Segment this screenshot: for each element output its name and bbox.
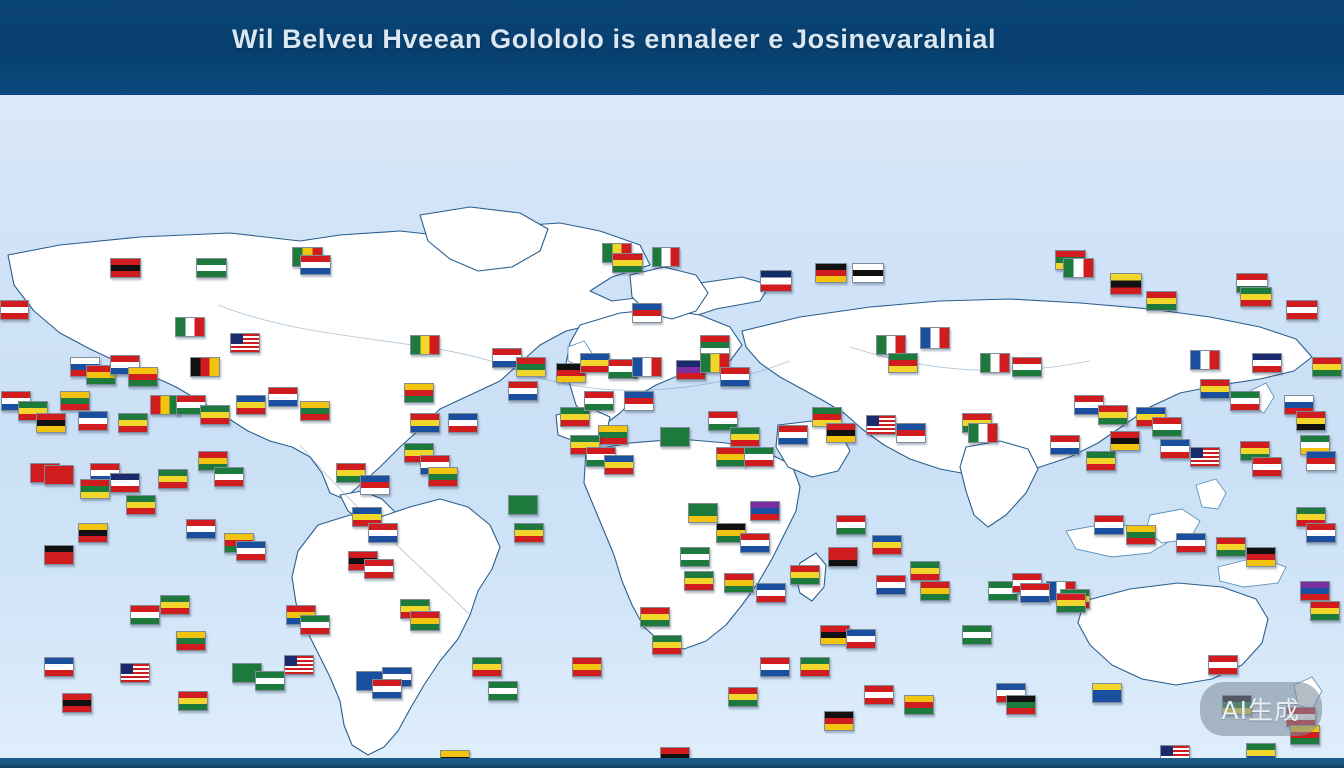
flag-bands xyxy=(1,301,28,319)
flag-marker[interactable] xyxy=(128,367,158,387)
flag-bands xyxy=(605,456,633,474)
flag-marker[interactable] xyxy=(1050,435,1080,455)
flag-marker[interactable] xyxy=(1252,353,1282,373)
flag-canton xyxy=(1161,746,1173,756)
flag-canton xyxy=(867,416,879,426)
flag-bands xyxy=(129,368,157,386)
flag-marker[interactable] xyxy=(1296,411,1326,431)
flag-bands xyxy=(201,406,229,424)
flag-bands xyxy=(969,424,997,442)
flag-bands xyxy=(717,448,745,466)
flag-bands xyxy=(779,426,807,444)
flag-marker[interactable] xyxy=(968,423,998,443)
flag-bands xyxy=(111,474,139,492)
flag-marker[interactable] xyxy=(750,501,780,521)
flag-bands xyxy=(725,574,753,592)
flag-bands xyxy=(161,596,189,614)
flag-bands xyxy=(573,658,601,676)
flag-bands xyxy=(1161,746,1189,758)
flag-marker[interactable] xyxy=(118,413,148,433)
flag-bands xyxy=(489,682,517,700)
flag-bands xyxy=(361,476,389,494)
flag-marker[interactable] xyxy=(284,655,314,675)
flag-marker[interactable] xyxy=(190,357,220,377)
flag-marker[interactable] xyxy=(920,327,950,349)
flag-bands xyxy=(741,534,769,552)
flag-bands xyxy=(131,606,159,624)
flag-marker[interactable] xyxy=(828,547,858,567)
flag-marker[interactable] xyxy=(1056,593,1086,613)
flag-bands xyxy=(661,428,689,446)
flag-marker[interactable] xyxy=(760,270,792,292)
flag-canton xyxy=(285,656,297,666)
flag-bands xyxy=(191,358,219,376)
flag-bands xyxy=(365,560,393,578)
flag-marker[interactable] xyxy=(778,425,808,445)
flag-marker[interactable] xyxy=(255,671,285,691)
flag-bands xyxy=(81,480,109,498)
flag-bands xyxy=(613,254,642,272)
flag-bands xyxy=(119,414,147,432)
flag-bands xyxy=(1307,452,1335,470)
flag-marker[interactable] xyxy=(632,357,662,377)
flag-bands xyxy=(1191,448,1219,466)
flag-bands xyxy=(1095,516,1123,534)
flag-marker[interactable] xyxy=(1240,287,1272,307)
flag-bands xyxy=(889,354,917,372)
flag-bands xyxy=(237,396,265,414)
flag-marker[interactable] xyxy=(44,657,74,677)
flag-bands xyxy=(1301,582,1329,600)
flag-marker[interactable] xyxy=(1110,431,1140,451)
flag-marker[interactable] xyxy=(1310,601,1340,621)
flag-marker[interactable] xyxy=(160,595,190,615)
flag-bands xyxy=(837,516,865,534)
flag-marker[interactable] xyxy=(1208,655,1238,675)
flag-bands xyxy=(301,402,329,420)
flag-marker[interactable] xyxy=(716,447,746,467)
flag-bands xyxy=(176,318,204,336)
flag-marker[interactable] xyxy=(236,395,266,415)
flag-marker[interactable] xyxy=(580,353,610,373)
flag-bands xyxy=(45,658,73,676)
flag-bands xyxy=(63,694,91,712)
flag-bands xyxy=(369,524,397,542)
flag-bands xyxy=(373,680,401,698)
flag-bands xyxy=(159,470,187,488)
flag-bands xyxy=(911,562,939,580)
flag-bands xyxy=(801,658,829,676)
flag-marker[interactable] xyxy=(300,255,331,275)
flag-bands xyxy=(1217,538,1245,556)
flag-marker[interactable] xyxy=(178,691,208,711)
flag-marker[interactable] xyxy=(1086,451,1116,471)
flag-marker[interactable] xyxy=(176,631,206,651)
flag-marker[interactable] xyxy=(688,503,718,523)
flag-bands xyxy=(61,392,89,410)
flag-marker[interactable] xyxy=(428,467,458,487)
flag-marker[interactable] xyxy=(440,750,470,758)
flag-marker[interactable] xyxy=(1126,525,1156,545)
flag-marker[interactable] xyxy=(824,711,854,731)
flag-marker[interactable] xyxy=(410,335,440,355)
flag-marker[interactable] xyxy=(836,515,866,535)
flag-bands xyxy=(509,382,537,400)
page-header: Wil Belveu Hveean Golololo is ennaleer e… xyxy=(0,0,1344,95)
flag-marker[interactable] xyxy=(0,300,29,320)
flag-bands xyxy=(751,502,779,520)
flag-bands xyxy=(231,334,259,352)
flag-bands xyxy=(821,626,849,644)
flag-bands xyxy=(79,524,107,542)
flag-marker[interactable] xyxy=(110,473,140,493)
flag-marker[interactable] xyxy=(744,447,774,467)
flag-marker[interactable] xyxy=(200,405,230,425)
flag-marker[interactable] xyxy=(864,685,894,705)
flag-bands xyxy=(177,632,205,650)
flag-bands xyxy=(757,584,785,602)
flag-marker[interactable] xyxy=(410,413,440,433)
flag-marker[interactable] xyxy=(158,469,188,489)
flag-marker[interactable] xyxy=(1190,447,1220,467)
flag-bands xyxy=(127,496,155,514)
flag-marker[interactable] xyxy=(78,411,108,431)
flag-marker[interactable] xyxy=(508,495,538,515)
page-title: Wil Belveu Hveean Golololo is ennaleer e… xyxy=(232,24,1064,55)
flag-marker[interactable] xyxy=(300,401,330,421)
flag-bands xyxy=(517,358,545,376)
flag-bands xyxy=(701,336,729,354)
flag-marker[interactable] xyxy=(790,565,820,585)
flag-bands xyxy=(269,388,297,406)
flag-bands xyxy=(829,548,857,566)
world-map-canvas[interactable]: AI生成 xyxy=(0,95,1344,758)
flag-marker[interactable] xyxy=(186,519,216,539)
flag-marker[interactable] xyxy=(80,479,110,499)
flag-bands xyxy=(1247,744,1275,758)
flag-bands xyxy=(1013,358,1041,376)
flag-marker[interactable] xyxy=(826,423,856,443)
flag-bands xyxy=(1021,584,1049,602)
flag-bands xyxy=(1111,274,1141,294)
flag-marker[interactable] xyxy=(624,391,654,411)
flag-marker[interactable] xyxy=(126,495,156,515)
flag-marker[interactable] xyxy=(488,681,518,701)
flag-marker[interactable] xyxy=(888,353,918,373)
flag-marker[interactable] xyxy=(1092,683,1122,703)
flag-bands xyxy=(197,259,226,277)
flag-marker[interactable] xyxy=(1312,357,1342,377)
flag-marker[interactable] xyxy=(1176,533,1206,553)
flag-marker[interactable] xyxy=(1094,515,1124,535)
flag-marker[interactable] xyxy=(1286,300,1318,320)
flag-marker[interactable] xyxy=(724,573,754,593)
flag-marker[interactable] xyxy=(684,571,714,591)
flag-canton xyxy=(231,334,243,344)
flag-bands xyxy=(791,566,819,584)
flag-marker[interactable] xyxy=(404,383,434,403)
flag-bands xyxy=(581,354,609,372)
flag-marker[interactable] xyxy=(1160,745,1190,758)
flag-bands xyxy=(411,414,439,432)
flag-marker[interactable] xyxy=(700,335,730,355)
flag-marker[interactable] xyxy=(876,335,906,355)
flag-bands xyxy=(429,468,457,486)
flag-bands xyxy=(641,608,669,626)
flag-bands xyxy=(1057,594,1085,612)
flag-bands xyxy=(111,259,140,277)
flag-bands xyxy=(1253,354,1281,372)
flag-marker[interactable] xyxy=(904,695,934,715)
flag-bands xyxy=(865,686,893,704)
flag-bands xyxy=(1209,656,1237,674)
flag-bands xyxy=(873,536,901,554)
flag-marker[interactable] xyxy=(872,535,902,555)
flag-marker[interactable] xyxy=(598,425,628,445)
flag-marker[interactable] xyxy=(36,413,66,433)
flag-marker[interactable] xyxy=(214,467,244,487)
flag-marker[interactable] xyxy=(660,747,690,758)
flag-bands xyxy=(441,751,469,758)
flag-marker[interactable] xyxy=(62,693,92,713)
flag-bands xyxy=(411,612,439,630)
flag-marker[interactable] xyxy=(175,317,205,337)
flag-bands xyxy=(301,256,330,274)
flag-marker[interactable] xyxy=(1020,583,1050,603)
flag-bands xyxy=(37,414,65,432)
flag-canton xyxy=(121,664,133,674)
flag-bands xyxy=(877,576,905,594)
flag-marker[interactable] xyxy=(1098,405,1128,425)
flag-bands xyxy=(731,428,759,446)
flag-marker[interactable] xyxy=(44,465,74,485)
flag-bands xyxy=(1241,288,1271,306)
flag-bands xyxy=(963,626,991,644)
flag-marker[interactable] xyxy=(756,583,786,603)
flag-bands xyxy=(897,424,925,442)
flag-marker[interactable] xyxy=(572,657,602,677)
flag-bands xyxy=(625,392,653,410)
flag-marker[interactable] xyxy=(364,559,394,579)
flag-marker[interactable] xyxy=(846,629,876,649)
flag-marker[interactable] xyxy=(652,247,680,267)
flag-marker[interactable] xyxy=(508,381,538,401)
flag-marker[interactable] xyxy=(632,303,662,323)
flag-marker[interactable] xyxy=(815,263,847,283)
flag-marker[interactable] xyxy=(640,607,670,627)
flag-marker[interactable] xyxy=(1300,581,1330,601)
flag-marker[interactable] xyxy=(410,611,440,631)
flag-marker[interactable] xyxy=(1216,537,1246,557)
flag-bands xyxy=(473,658,501,676)
flag-bands xyxy=(816,264,846,282)
flag-bands xyxy=(237,542,265,560)
flag-bands xyxy=(825,712,853,730)
flag-marker[interactable] xyxy=(120,663,150,683)
flag-marker[interactable] xyxy=(1306,523,1336,543)
flag-bands xyxy=(905,696,933,714)
flag-bands xyxy=(1307,524,1335,542)
flag-marker[interactable] xyxy=(130,605,160,625)
flag-bands xyxy=(827,424,855,442)
flag-marker[interactable] xyxy=(44,545,74,565)
flag-bands xyxy=(301,616,329,634)
flag-bands xyxy=(847,630,875,648)
flag-marker[interactable] xyxy=(1146,291,1177,311)
flag-bands xyxy=(633,358,661,376)
flag-marker[interactable] xyxy=(1230,391,1260,411)
flag-bands xyxy=(729,688,757,706)
flag-bands xyxy=(599,426,627,444)
flag-bands xyxy=(653,248,679,266)
flag-marker[interactable] xyxy=(896,423,926,443)
flag-bands xyxy=(509,496,537,514)
flag-bands xyxy=(121,664,149,682)
flag-bands xyxy=(215,468,243,486)
flag-marker[interactable] xyxy=(368,523,398,543)
flag-marker[interactable] xyxy=(1006,695,1036,715)
flag-marker[interactable] xyxy=(516,357,546,377)
flag-bands xyxy=(1311,602,1339,620)
flag-marker[interactable] xyxy=(230,333,260,353)
flag-bands xyxy=(653,636,681,654)
flag-bands xyxy=(151,396,179,414)
flag-marker[interactable] xyxy=(110,258,141,278)
flag-bands xyxy=(689,504,717,522)
flag-bands xyxy=(515,524,543,542)
flag-marker[interactable] xyxy=(760,657,790,677)
flag-bands xyxy=(256,672,284,690)
flag-marker[interactable] xyxy=(728,687,758,707)
flag-marker[interactable] xyxy=(1012,357,1042,377)
flag-marker[interactable] xyxy=(1190,350,1220,370)
flag-bands xyxy=(745,448,773,466)
flag-bands xyxy=(1231,392,1259,410)
flag-marker[interactable] xyxy=(876,575,906,595)
flag-marker[interactable] xyxy=(448,413,478,433)
flag-marker[interactable] xyxy=(962,625,992,645)
flag-bands xyxy=(187,520,215,538)
flag-marker[interactable] xyxy=(740,533,770,553)
flag-bands xyxy=(921,582,949,600)
flag-bands xyxy=(1161,440,1189,458)
flag-marker[interactable] xyxy=(584,391,614,411)
ai-generated-watermark: AI生成 xyxy=(1200,682,1322,736)
flag-bands xyxy=(681,548,709,566)
flag-marker[interactable] xyxy=(652,635,682,655)
flag-marker[interactable] xyxy=(612,253,643,273)
flag-bands xyxy=(1313,358,1341,376)
flag-bands xyxy=(685,572,713,590)
flag-marker[interactable] xyxy=(1306,451,1336,471)
flag-bands xyxy=(45,466,73,484)
flag-bands xyxy=(633,304,661,322)
flag-bands xyxy=(1201,380,1229,398)
flag-marker[interactable] xyxy=(800,657,830,677)
flag-bands xyxy=(867,416,895,434)
flag-marker[interactable] xyxy=(920,581,950,601)
flag-bands xyxy=(921,328,949,348)
flag-bands xyxy=(1177,534,1205,552)
flag-canton xyxy=(1191,448,1203,458)
flag-bands xyxy=(1297,412,1325,430)
flag-bands xyxy=(1287,301,1317,319)
flag-bands xyxy=(661,748,689,758)
flag-marker[interactable] xyxy=(660,427,690,447)
flag-marker[interactable] xyxy=(1246,743,1276,758)
flag-bands xyxy=(1153,418,1181,436)
flag-marker[interactable] xyxy=(1110,273,1142,295)
flag-marker[interactable] xyxy=(1160,439,1190,459)
flag-marker[interactable] xyxy=(866,415,896,435)
flag-bands xyxy=(79,412,107,430)
bottom-accent-bar xyxy=(0,758,1344,768)
flag-bands xyxy=(285,656,313,674)
flag-bands xyxy=(411,336,439,354)
flag-marker[interactable] xyxy=(360,475,390,495)
flag-marker[interactable] xyxy=(300,615,330,635)
flag-bands xyxy=(1099,406,1127,424)
flag-marker[interactable] xyxy=(730,427,760,447)
flag-bands xyxy=(1064,259,1093,277)
flag-bands xyxy=(1111,432,1139,450)
flag-bands xyxy=(1127,526,1155,544)
flag-bands xyxy=(1253,458,1281,476)
flag-marker[interactable] xyxy=(472,657,502,677)
flag-marker[interactable] xyxy=(78,523,108,543)
flag-bands xyxy=(45,546,73,564)
flag-bands xyxy=(853,264,883,282)
flag-bands xyxy=(1007,696,1035,714)
flag-bands xyxy=(585,392,613,410)
flag-bands xyxy=(1051,436,1079,454)
flag-marker[interactable] xyxy=(60,391,90,411)
flag-marker[interactable] xyxy=(514,523,544,543)
flag-marker[interactable] xyxy=(980,353,1010,373)
flag-bands xyxy=(761,271,791,291)
flag-bands xyxy=(1247,548,1275,566)
flag-bands xyxy=(1147,292,1176,310)
flag-marker[interactable] xyxy=(268,387,298,407)
flag-bands xyxy=(1087,452,1115,470)
flag-bands xyxy=(877,336,905,354)
flag-bands xyxy=(1093,684,1121,702)
flag-bands xyxy=(721,368,749,386)
flag-bands xyxy=(405,384,433,402)
flag-marker[interactable] xyxy=(680,547,710,567)
flag-bands xyxy=(1191,351,1219,369)
flag-marker[interactable] xyxy=(196,258,227,278)
flag-marker[interactable] xyxy=(720,367,750,387)
flag-bands xyxy=(449,414,477,432)
flag-marker[interactable] xyxy=(1200,379,1230,399)
flag-marker[interactable] xyxy=(852,263,884,283)
flag-marker[interactable] xyxy=(910,561,940,581)
flag-marker[interactable] xyxy=(604,455,634,475)
flag-marker[interactable] xyxy=(1063,258,1094,278)
flag-marker[interactable] xyxy=(1252,457,1282,477)
flag-bands xyxy=(981,354,1009,372)
flag-bands xyxy=(179,692,207,710)
flag-marker[interactable] xyxy=(372,679,402,699)
flag-marker[interactable] xyxy=(1246,547,1276,567)
flag-marker[interactable] xyxy=(236,541,266,561)
flag-marker-layer xyxy=(0,95,1344,758)
flag-marker[interactable] xyxy=(1152,417,1182,437)
flag-bands xyxy=(761,658,789,676)
